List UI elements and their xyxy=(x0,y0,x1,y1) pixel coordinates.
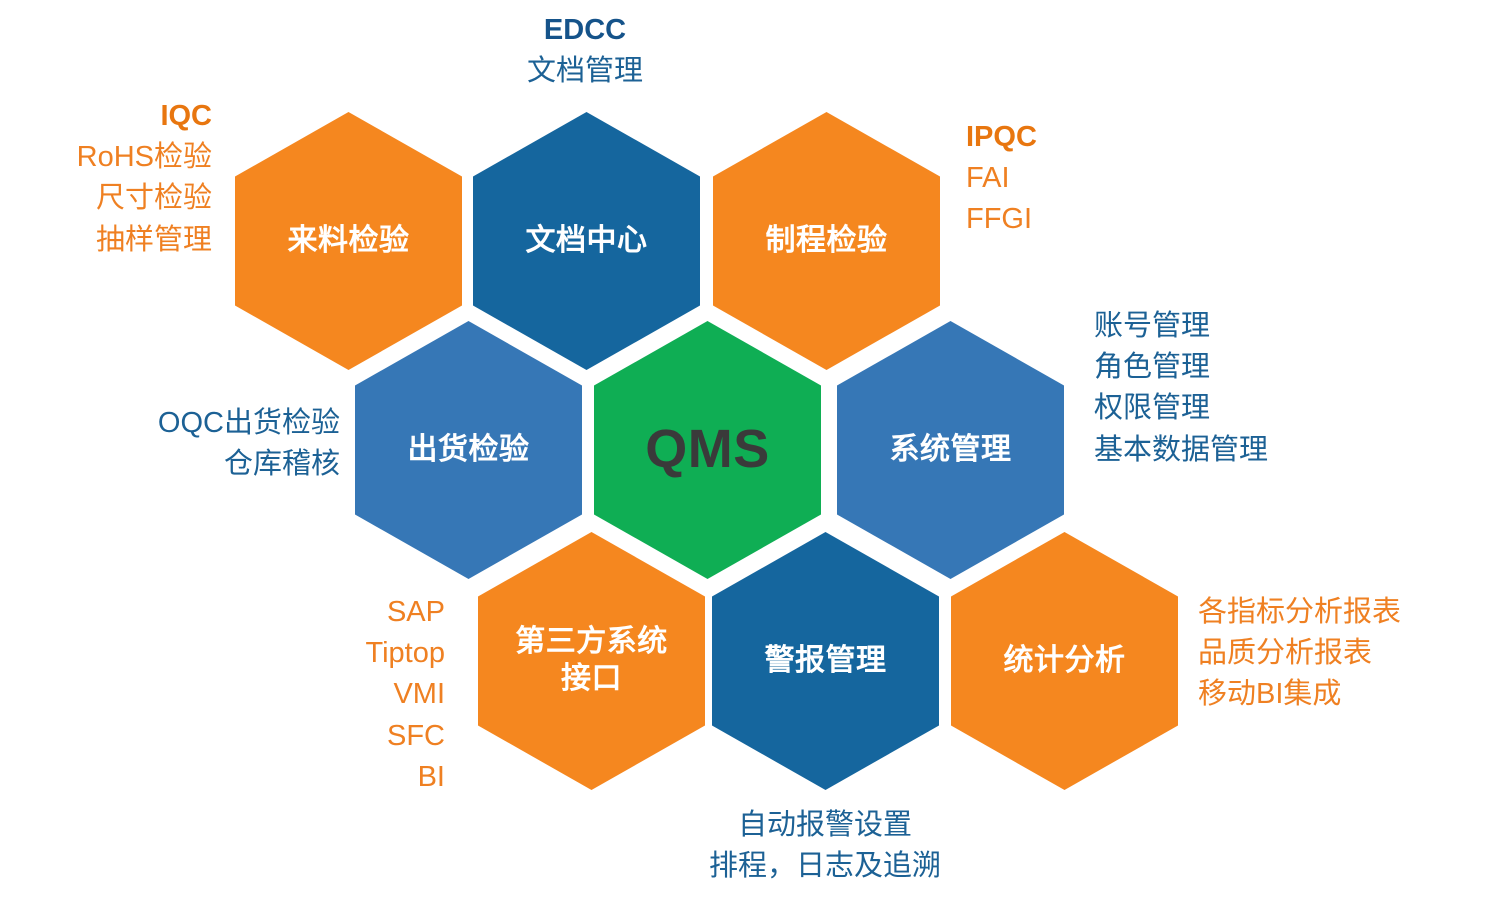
annotation-system-management-item-3: 基本数据管理 xyxy=(1094,430,1424,471)
annotation-third-party: SAP Tiptop VMI SFC BI xyxy=(300,592,445,798)
hexagon-label: 制程检验 xyxy=(748,223,906,260)
annotation-statistical-analysis: 各指标分析报表 品质分析报表 移动BI集成 xyxy=(1198,592,1496,716)
annotation-iqc-item-0: RoHS检验 xyxy=(0,137,212,178)
annotation-alarm-item-1: 排程，日志及追溯 xyxy=(620,846,1030,887)
annotation-system-management: 账号管理 角色管理 权限管理 基本数据管理 xyxy=(1094,306,1424,471)
hexagon-document-center[interactable]: 文档中心 xyxy=(473,112,700,370)
annotation-alarm-item-0: 自动报警设置 xyxy=(620,805,1030,846)
hexagon-label: 统计分析 xyxy=(986,643,1144,680)
hexagon-label: 系统管理 xyxy=(872,432,1030,469)
hexagon-label: QMS xyxy=(627,417,788,483)
hexagon-qms-core[interactable]: QMS xyxy=(594,321,821,579)
hexagon-system-management[interactable]: 系统管理 xyxy=(837,321,1064,579)
annotation-oqc: OQC出货检验 仓库稽核 xyxy=(0,403,340,485)
hexagon-label: 来料检验 xyxy=(270,223,428,260)
annotation-edcc-item-0: 文档管理 xyxy=(460,51,710,92)
hexagon-process-inspection[interactable]: 制程检验 xyxy=(713,112,940,370)
annotation-iqc: IQC RoHS检验 尺寸检验 抽样管理 xyxy=(0,96,212,261)
annotation-statistics-item-0: 各指标分析报表 xyxy=(1198,592,1496,633)
hexagon-label: 第三方系统 接口 xyxy=(497,624,686,697)
annotation-third-party-item-4: BI xyxy=(300,757,445,798)
hexagon-outgoing-inspection[interactable]: 出货检验 xyxy=(355,321,582,579)
annotation-ipqc-heading: IPQC xyxy=(966,117,1186,158)
annotation-oqc-heading-line: OQC出货检验 xyxy=(0,403,340,444)
annotation-ipqc: IPQC FAI FFGI xyxy=(966,117,1186,241)
annotation-oqc-item-0: 仓库稽核 xyxy=(0,444,340,485)
annotation-alarm-management: 自动报警设置 排程，日志及追溯 xyxy=(620,805,1030,887)
annotation-third-party-item-0: SAP xyxy=(300,592,445,633)
hexagon-incoming-inspection[interactable]: 来料检验 xyxy=(235,112,462,370)
annotation-third-party-item-3: SFC xyxy=(300,716,445,757)
annotation-edcc: EDCC 文档管理 xyxy=(460,10,710,92)
annotation-third-party-item-1: Tiptop xyxy=(300,633,445,674)
annotation-statistics-item-2: 移动BI集成 xyxy=(1198,674,1496,715)
annotation-edcc-heading: EDCC xyxy=(460,10,710,51)
annotation-third-party-item-2: VMI xyxy=(300,674,445,715)
annotation-statistics-item-1: 品质分析报表 xyxy=(1198,633,1496,674)
annotation-iqc-item-2: 抽样管理 xyxy=(0,220,212,261)
annotation-ipqc-item-0: FAI xyxy=(966,158,1186,199)
annotation-iqc-item-1: 尺寸检验 xyxy=(0,178,212,219)
annotation-system-management-item-2: 权限管理 xyxy=(1094,388,1424,429)
annotation-iqc-heading: IQC xyxy=(0,96,212,137)
annotation-oqc-heading-suffix: 出货检验 xyxy=(224,407,340,439)
annotation-system-management-item-0: 账号管理 xyxy=(1094,306,1424,347)
hexagon-label: 文档中心 xyxy=(508,223,666,260)
annotation-system-management-item-1: 角色管理 xyxy=(1094,347,1424,388)
qms-hexagon-diagram: 来料检验 文档中心 制程检验 出货检验 QMS 系统管理 第三方系统 接口 警报… xyxy=(0,0,1496,918)
hexagon-statistical-analysis[interactable]: 统计分析 xyxy=(951,532,1178,790)
hexagon-label: 警报管理 xyxy=(747,643,905,680)
hexagon-label: 出货检验 xyxy=(390,432,548,469)
annotation-oqc-heading: OQC xyxy=(158,407,224,439)
hexagon-alarm-management[interactable]: 警报管理 xyxy=(712,532,939,790)
annotation-ipqc-item-1: FFGI xyxy=(966,199,1186,240)
hexagon-third-party-interface[interactable]: 第三方系统 接口 xyxy=(478,532,705,790)
